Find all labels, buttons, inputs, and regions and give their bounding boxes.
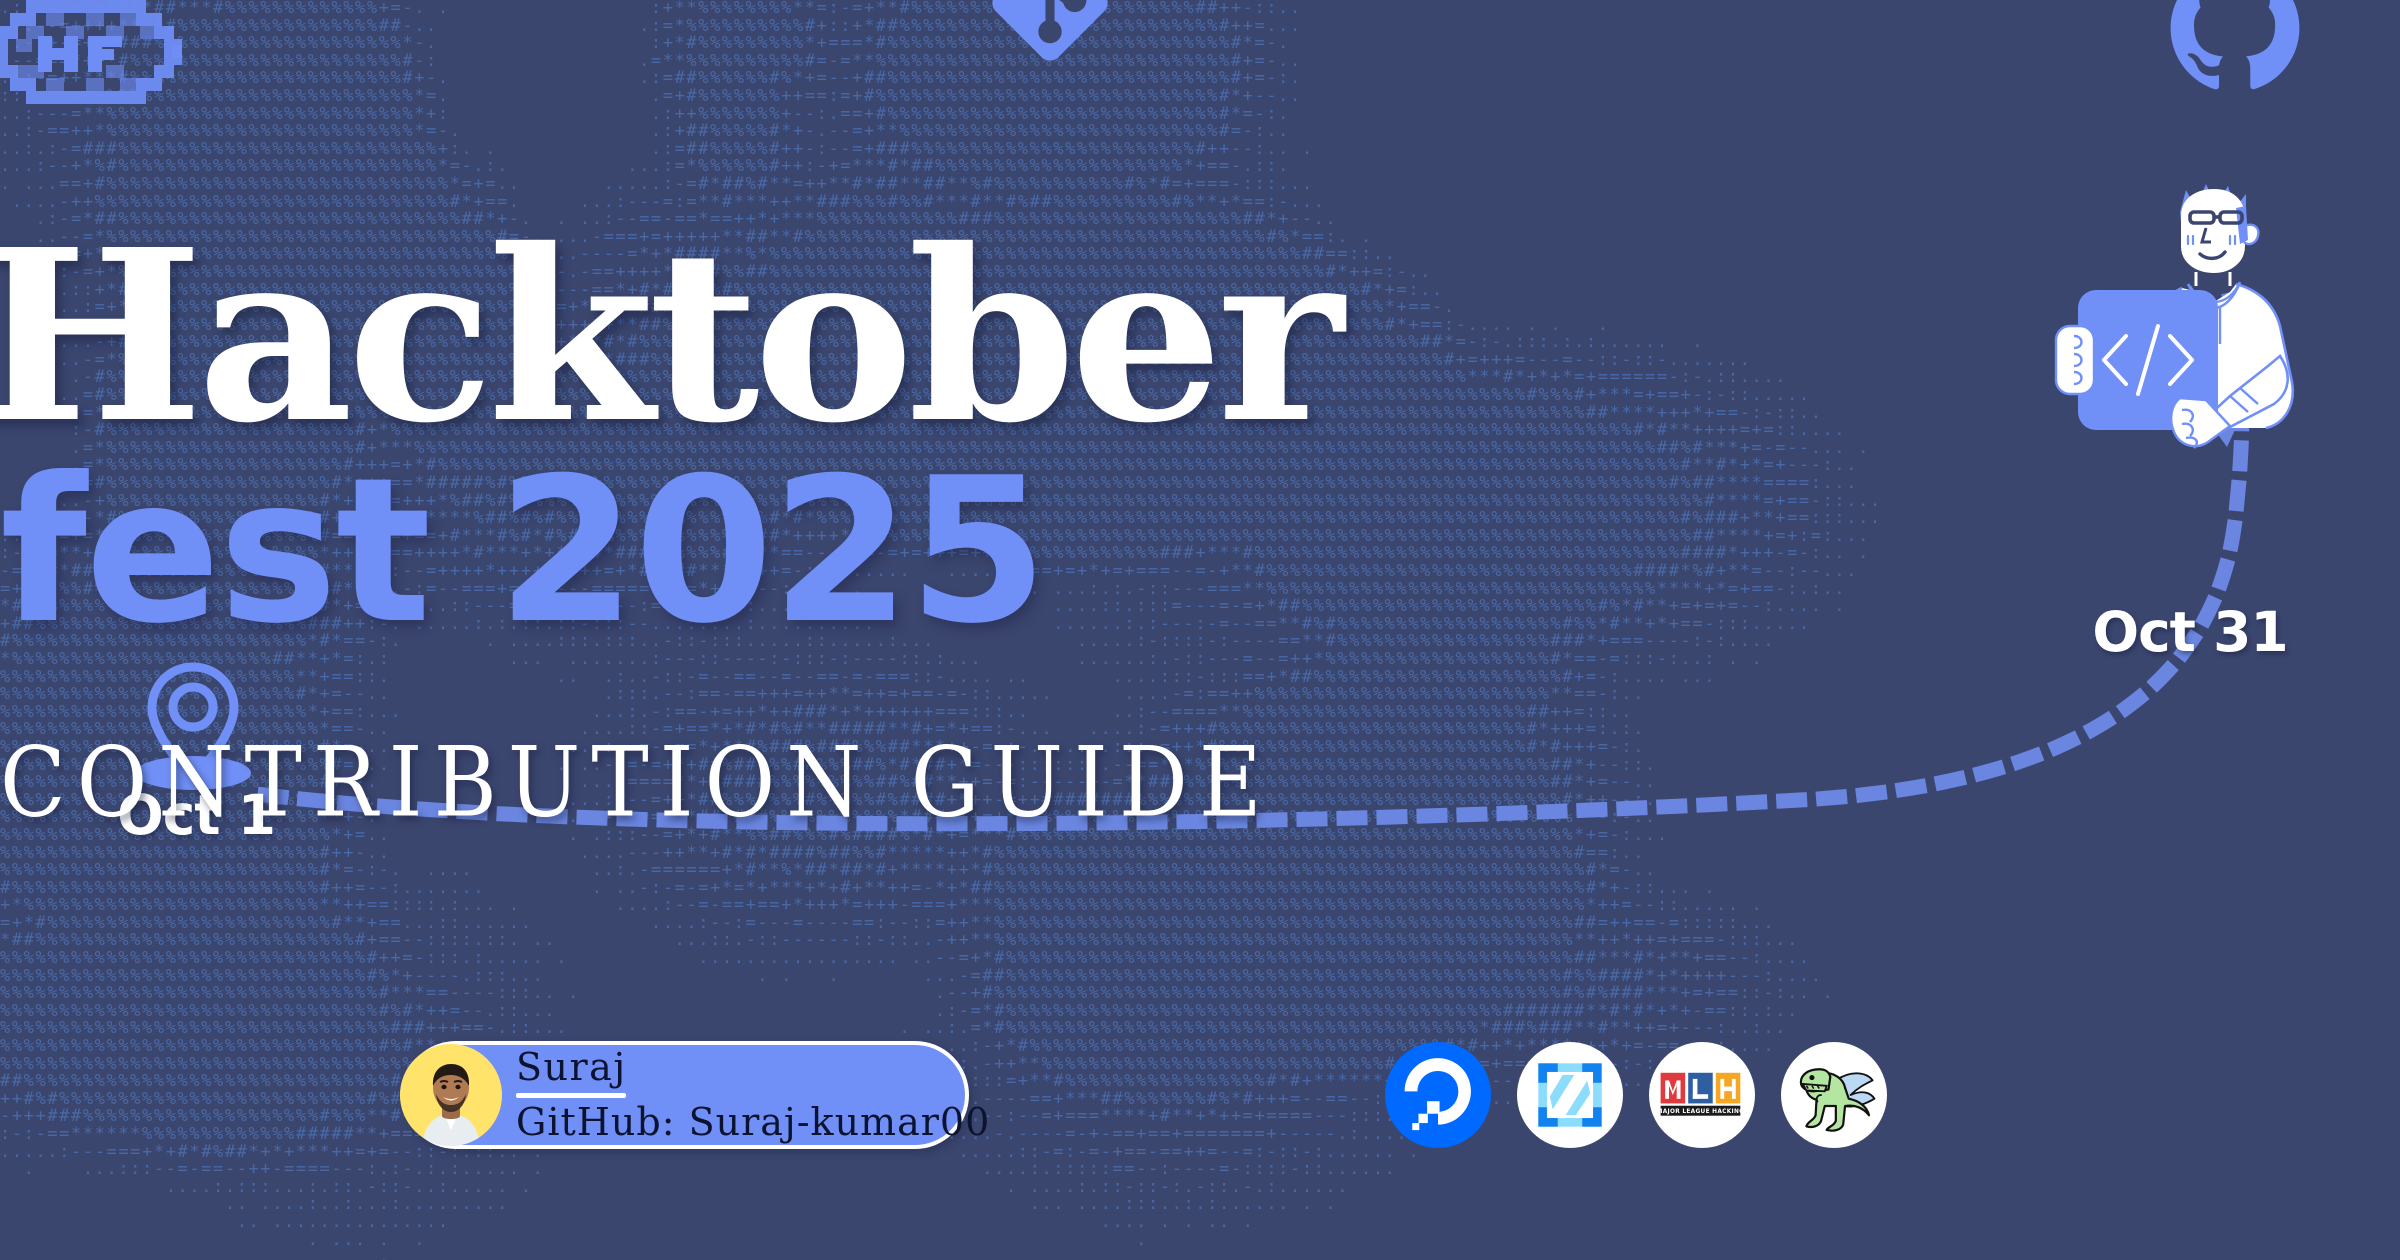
hacktoberfest-hf-logo	[0, 0, 260, 112]
avatar	[400, 1044, 502, 1146]
mlh-logo[interactable]: MAJOR LEAGUE HACKING	[1649, 1042, 1755, 1148]
author-github-handle: GitHub: Suraj-kumar00	[516, 1103, 990, 1143]
winged-dino-logo[interactable]	[1781, 1042, 1887, 1148]
page-subtitle: CONTRIBUTION GUIDE	[0, 733, 2400, 834]
author-name: Suraj	[516, 1048, 990, 1088]
author-info: Suraj GitHub: Suraj-kumar00	[516, 1048, 990, 1143]
hacktoberfest-sponsor-logo[interactable]	[1517, 1042, 1623, 1148]
page-title-line1: Hacktober	[0, 218, 2400, 454]
page-title-line2: fest 2025	[0, 452, 2400, 652]
github-octocat-icon	[2165, 0, 2305, 98]
author-badge[interactable]: Suraj GitHub: Suraj-kumar00	[402, 1041, 969, 1149]
git-logo-icon	[985, 0, 1115, 68]
svg-text:MAJOR LEAGUE HACKING: MAJOR LEAGUE HACKING	[1657, 1109, 1745, 1115]
sponsor-logo-row: MAJOR LEAGUE HACKING	[1385, 1042, 1887, 1148]
divider	[516, 1093, 626, 1098]
digitalocean-logo[interactable]	[1385, 1042, 1491, 1148]
